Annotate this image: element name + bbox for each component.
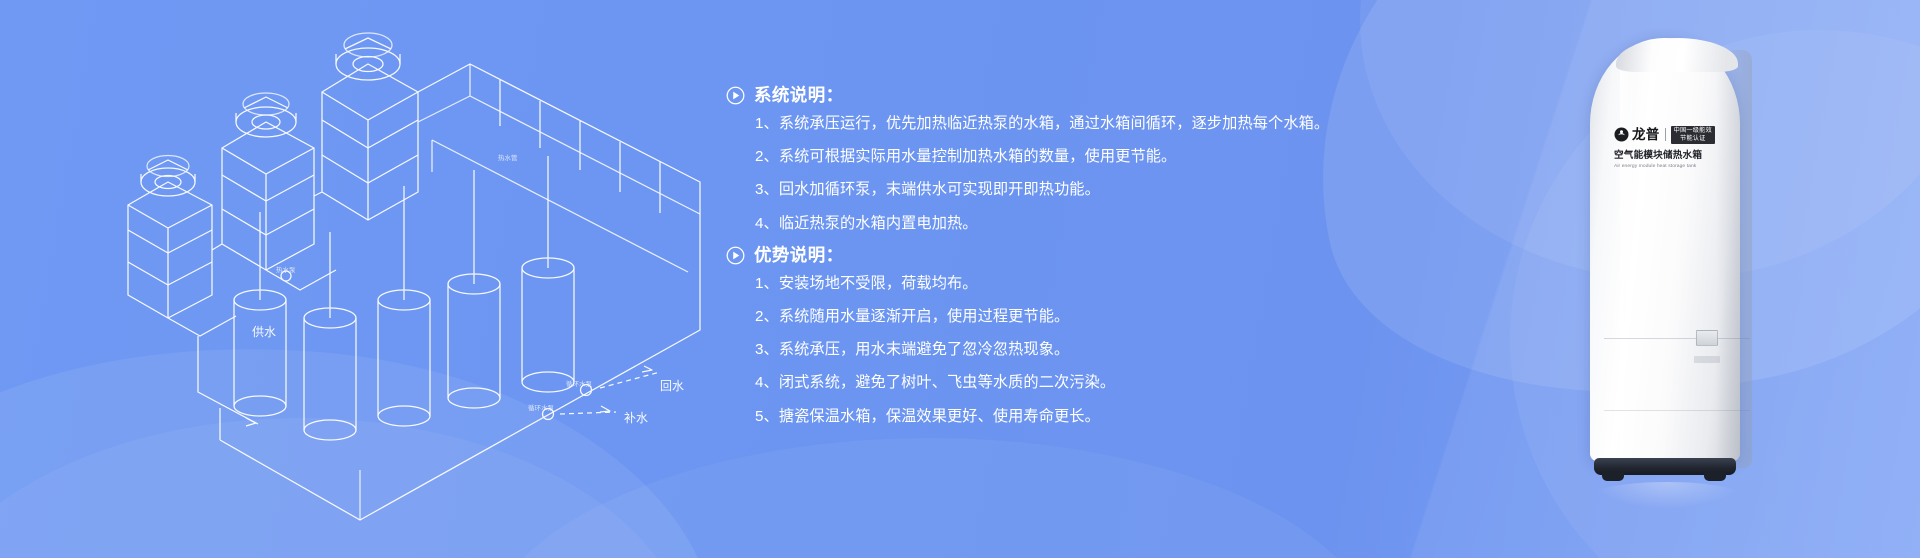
brand-mark-icon: [1614, 127, 1629, 142]
tank-seam-lower: [1604, 410, 1750, 411]
tank-side-shadow: [1716, 50, 1752, 468]
storage-tank-d: [448, 170, 500, 408]
tank-control-panel: [1696, 330, 1718, 346]
list-item: 2、系统可根据实际用水量控制加热水箱的数量，使用更节能。: [755, 149, 1326, 164]
return-line: [600, 372, 660, 388]
product-image: 龙普 中国一级能效 节能认证 空气能模块储热水箱 Air energy modu…: [1578, 30, 1768, 520]
section-advantage: 优势说明： 1、安装场地不受限，荷载均布。 2、系统随用水量逐渐开启，使用过程更…: [726, 246, 1326, 424]
floor-frame-right: [220, 214, 700, 520]
storage-tank-e: [522, 156, 574, 392]
list-item: 3、系统承压，用水末端避免了忽冷忽热现象。: [755, 342, 1326, 357]
diagram-label-hotpipe: 热水管: [498, 153, 518, 162]
tank-highlight: [1620, 52, 1636, 462]
tank-foot-left: [1602, 471, 1624, 481]
tank-top-cap: [1616, 38, 1738, 72]
storage-tank-group: [234, 156, 574, 440]
section-system-header: 系统说明：: [726, 86, 1326, 105]
list-item: 2、系统随用水量逐渐开启，使用过程更节能。: [755, 309, 1326, 324]
arrow-makeup: [600, 406, 610, 412]
diagram-label-supply: 供水: [252, 325, 276, 339]
storage-tank-c: [378, 186, 430, 426]
pipe-unit1-unit2: [212, 244, 222, 250]
logo-divider: [1665, 128, 1666, 141]
list-item: 4、临近热泵的水箱内置电加热。: [755, 216, 1326, 231]
diagram-label-pump-2: 循环水泵: [528, 403, 555, 412]
badge-line-2: 节能认证: [1680, 135, 1706, 142]
brand-name-cn: 龙普: [1632, 128, 1660, 142]
section-advantage-list: 1、安装场地不受限，荷载均布。 2、系统随用水量逐渐开启，使用过程更节能。 3、…: [726, 276, 1326, 424]
list-item: 4、闭式系统，避免了树叶、飞虫等水质的二次污染。: [755, 375, 1326, 390]
pipe-unit2-unit3: [314, 192, 322, 196]
tank-foot-right: [1704, 471, 1726, 481]
diagram-label-heatpump: 热水泵: [276, 265, 296, 274]
tank-floor-reflection: [1594, 482, 1740, 508]
diagram-label-return: 回水: [660, 379, 684, 393]
heat-pump-unit-1: [128, 156, 212, 319]
section-system-list: 1、系统承压运行，优先加热临近热泵的水箱，通过水箱间循环，逐步加热每个水箱。 2…: [726, 116, 1326, 231]
list-item: 1、安装场地不受限，荷载均布。: [755, 276, 1326, 291]
diagram-label-makeup: 补水: [624, 411, 648, 425]
diagram-label-pump-1: 循环水泵: [566, 379, 593, 388]
list-item: 5、搪瓷保温水箱，保温效果更好、使用寿命更长。: [755, 409, 1326, 424]
product-title-cn: 空气能模块储热水箱: [1614, 150, 1742, 162]
badge-line-1: 中国一级能效: [1674, 127, 1712, 134]
description-content: 系统说明： 1、系统承压运行，优先加热临近热泵的水箱，通过水箱间循环，逐步加热每…: [726, 86, 1326, 439]
storage-tank-b: [304, 232, 356, 440]
section-advantage-header: 优势说明：: [726, 246, 1326, 265]
product-banner: 供水 回水 补水 循环水泵 循环水泵 热水泵 热水管 系统说明：: [0, 0, 1920, 558]
energy-efficiency-badge: 中国一级能效 节能认证: [1671, 126, 1715, 144]
section-system-title: 系统说明：: [754, 87, 844, 105]
tank-spec-label: [1694, 356, 1720, 363]
makeup-line: [560, 412, 616, 414]
arrow-supply: [246, 418, 256, 426]
product-title-en: Air energy module heat storage tank: [1614, 164, 1746, 170]
section-system: 系统说明： 1、系统承压运行，优先加热临近热泵的水箱，通过水箱间循环，逐步加热每…: [726, 86, 1326, 231]
tank-seam-upper: [1604, 338, 1750, 339]
manifold-top-right: [418, 64, 700, 214]
play-circle-icon: [726, 246, 745, 265]
list-item: 3、回水加循环泵，末端供水可实现即开即热功能。: [755, 182, 1326, 197]
play-circle-icon: [726, 86, 745, 105]
heat-pump-unit-2: [222, 93, 314, 270]
brand-logo-row: 龙普 中国一级能效 节能认证: [1614, 126, 1732, 144]
section-advantage-title: 优势说明：: [754, 247, 844, 265]
arrow-return: [642, 366, 652, 372]
pipe-unit1-down: [168, 316, 236, 336]
water-tank-body: 龙普 中国一级能效 节能认证 空气能模块储热水箱 Air energy modu…: [1590, 38, 1740, 462]
list-item: 1、系统承压运行，优先加热临近热泵的水箱，通过水箱间循环，逐步加热每个水箱。: [755, 116, 1326, 131]
system-diagram: 供水 回水 补水 循环水泵 循环水泵 热水泵 热水管: [0, 0, 740, 558]
supply-line: [198, 336, 258, 424]
storage-tank-a: [234, 212, 286, 416]
